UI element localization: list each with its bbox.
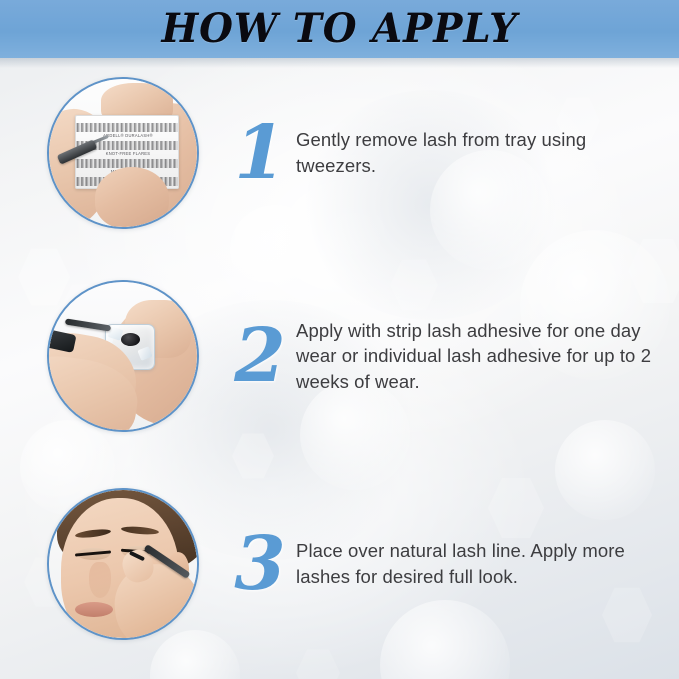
step-item: 3 Place over natural lash line. Apply mo… (0, 488, 679, 640)
step-caption: Gently remove lash from tray using tweez… (296, 127, 679, 178)
step-item: ARDELL® DURALASH® KNOT-FREE FLARES MEDIU… (0, 77, 679, 229)
step-number: 1 (224, 116, 296, 190)
header-banner: HOW TO APPLY (0, 0, 679, 58)
page-title: HOW TO APPLY (161, 9, 517, 49)
step-number: 2 (224, 319, 296, 393)
step-caption: Place over natural lash line. Apply more… (296, 538, 679, 589)
step-photo-adhesive-ring (47, 280, 199, 432)
banner-shadow (0, 58, 679, 68)
step-photo-applying-lash (47, 488, 199, 640)
tray-brand-text: ARDELL® DURALASH® (76, 133, 179, 138)
step-caption: Apply with strip lash adhesive for one d… (296, 318, 679, 395)
how-to-apply-poster: HOW TO APPLY ARDELL® DURALASH® (0, 0, 679, 679)
adhesive-drop (121, 333, 140, 346)
step-item: 2 Apply with strip lash adhesive for one… (0, 280, 679, 432)
tray-type-text: KNOT-FREE FLARES (76, 151, 179, 156)
step-photo-lash-tray: ARDELL® DURALASH® KNOT-FREE FLARES MEDIU… (47, 77, 199, 229)
steps-list: ARDELL® DURALASH® KNOT-FREE FLARES MEDIU… (0, 0, 679, 679)
step-number: 3 (224, 527, 296, 601)
